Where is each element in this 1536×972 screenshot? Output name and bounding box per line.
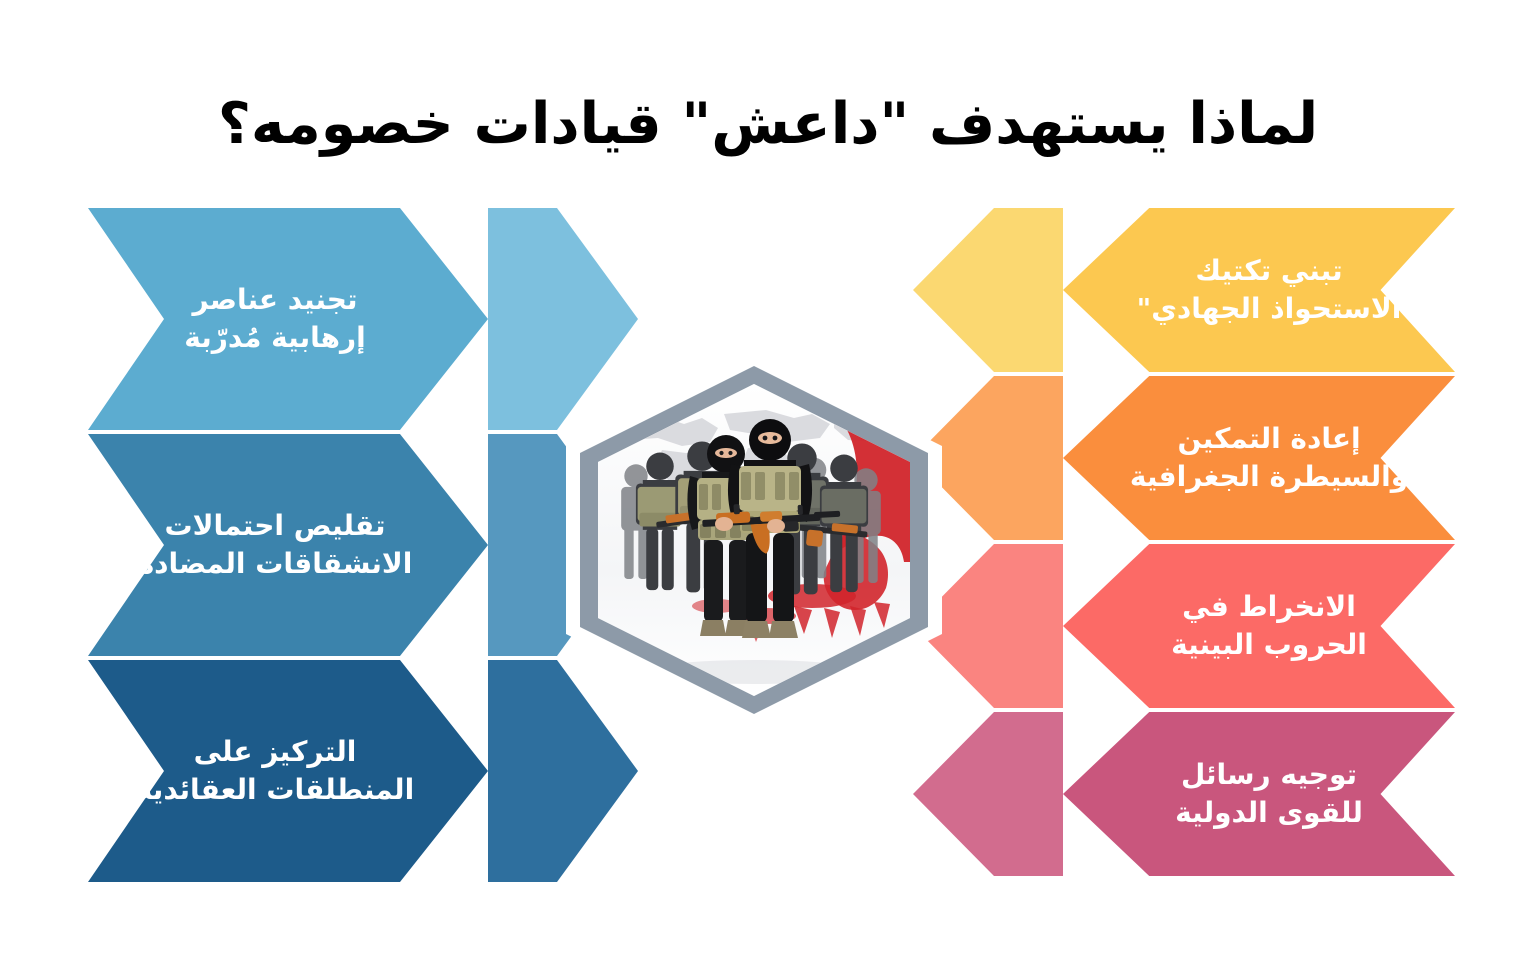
- right-arrow-4[interactable]: توجيه رسائل للقوى الدولية: [1063, 712, 1455, 876]
- right-arrow-3-body: [1063, 544, 1455, 708]
- right-arrow-2[interactable]: إعادة التمكين والسيطرة الجغرافية: [1063, 376, 1455, 540]
- page-title: لماذا يستهدف "داعش" قيادات خصومه؟: [0, 92, 1536, 158]
- right-arrow-4-tail: [913, 712, 1063, 876]
- right-arrow-1-body: [1063, 208, 1455, 372]
- right-arrow-4-body: [1063, 712, 1455, 876]
- left-arrow-2-body: [88, 434, 488, 656]
- left-arrow-1-body: [88, 208, 488, 430]
- center-hexagon: [566, 352, 942, 728]
- right-arrow-3[interactable]: الانخراط في الحروب البينية: [1063, 544, 1455, 708]
- left-arrow-3[interactable]: التركيز على المنطلقات العقائدية: [88, 660, 488, 882]
- left-arrow-1[interactable]: تجنيد عناصر إرهابية مُدرّبة: [88, 208, 488, 430]
- right-arrow-1-tail: [913, 208, 1063, 372]
- left-arrow-2[interactable]: تقليص احتمالات الانشقاقات المضادة: [88, 434, 488, 656]
- infographic-canvas: لماذا يستهدف "داعش" قيادات خصومه؟ تجنيد …: [0, 0, 1536, 972]
- right-arrow-1[interactable]: تبني تكتيك الاستحواذ الجهادي": [1063, 208, 1455, 372]
- right-arrow-2-body: [1063, 376, 1455, 540]
- left-arrow-3-body: [88, 660, 488, 882]
